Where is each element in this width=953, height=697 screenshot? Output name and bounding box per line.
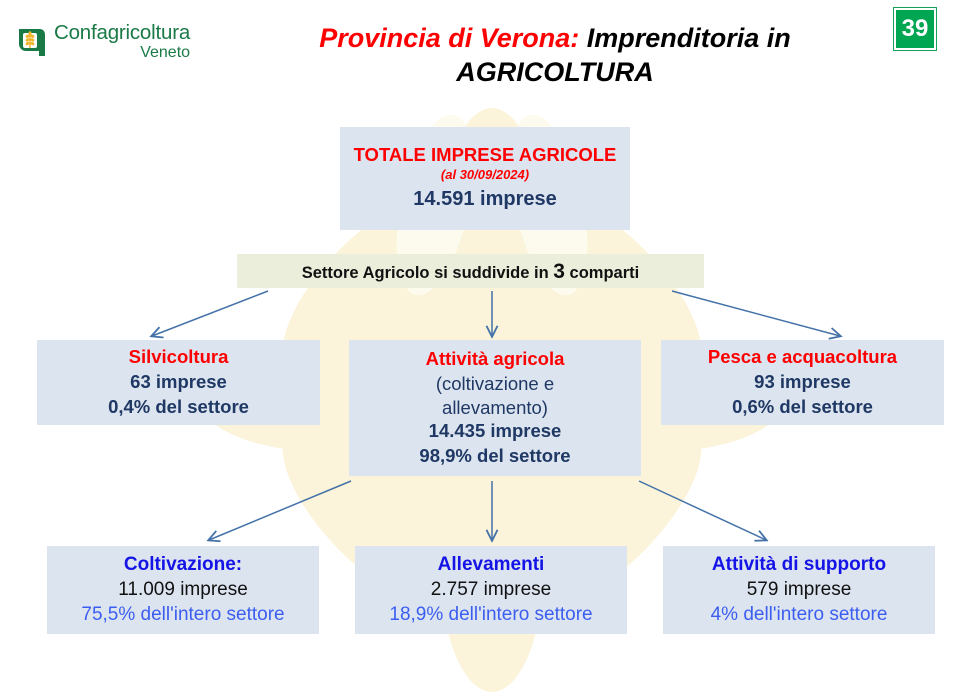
subsector-name: Allevamenti xyxy=(438,552,545,578)
page-title: Provincia di Verona: Imprenditoria in AG… xyxy=(235,22,875,90)
page-number-badge: 39 xyxy=(894,8,936,50)
subsector-count: 579 imprese xyxy=(747,578,852,603)
sector-name: Pesca e acquacoltura xyxy=(708,345,897,370)
page-number: 39 xyxy=(902,17,929,41)
subsector-share: 18,9% dell'intero settore xyxy=(389,603,592,628)
subsector-count: 11.009 imprese xyxy=(118,578,248,603)
total-box-date-note: (al 30/09/2024) xyxy=(441,166,529,184)
sector-box-attivita-agricola: Attività agricola (coltivazione e alleva… xyxy=(349,340,641,476)
sector-subtitle-line2: allevamento) xyxy=(442,396,548,419)
sector-count: 93 imprese xyxy=(754,370,851,395)
confagricoltura-logo: Confagricoltura Veneto xyxy=(16,18,221,66)
total-box-title: TOTALE IMPRESE AGRICOLE xyxy=(354,143,617,166)
logo-wordmark: Confagricoltura Veneto xyxy=(54,23,190,62)
sector-share: 98,9% del settore xyxy=(419,444,570,469)
slide-canvas: Confagricoltura Veneto 39 Provincia di V… xyxy=(0,0,953,697)
total-companies-box: TOTALE IMPRESE AGRICOLE (al 30/09/2024) … xyxy=(340,127,630,230)
sector-share: 0,4% del settore xyxy=(108,395,249,420)
subsector-box-allevamenti: Allevamenti 2.757 imprese 18,9% dell'int… xyxy=(355,546,627,634)
split-text-before: Settore Agricolo si suddivide in xyxy=(302,264,554,282)
subsector-box-attivita-supporto: Attività di supporto 579 imprese 4% dell… xyxy=(663,546,935,634)
sector-box-pesca-acquacoltura: Pesca e acquacoltura 93 imprese 0,6% del… xyxy=(661,340,944,425)
logo-name-line1: Confagricoltura xyxy=(54,23,190,44)
logo-name-line2: Veneto xyxy=(140,45,190,61)
subsector-name: Coltivazione: xyxy=(124,552,242,578)
subsector-share: 75,5% dell'intero settore xyxy=(81,603,284,628)
sector-share: 0,6% del settore xyxy=(732,395,873,420)
total-box-value: 14.591 imprese xyxy=(413,185,556,214)
split-text-after: comparti xyxy=(565,264,639,282)
subsector-name: Attività di supporto xyxy=(712,552,886,578)
sector-count: 63 imprese xyxy=(130,370,227,395)
wheat-ear-logo-icon xyxy=(16,25,48,59)
sector-box-silvicoltura: Silvicoltura 63 imprese 0,4% del settore xyxy=(37,340,320,425)
sector-subtitle-line1: (coltivazione e xyxy=(436,372,554,395)
subsector-count: 2.757 imprese xyxy=(431,578,551,603)
split-count: 3 xyxy=(553,260,565,283)
sector-count: 14.435 imprese xyxy=(429,419,562,444)
sector-split-text: Settore Agricolo si suddivide in 3 compa… xyxy=(302,261,639,282)
subsector-share: 4% dell'intero settore xyxy=(711,603,888,628)
sector-name: Attività agricola xyxy=(426,347,565,372)
page-title-highlight: Provincia di Verona: xyxy=(319,23,579,53)
subsector-box-coltivazione: Coltivazione: 11.009 imprese 75,5% dell'… xyxy=(47,546,319,634)
sector-split-band: Settore Agricolo si suddivide in 3 compa… xyxy=(237,254,704,288)
sector-name: Silvicoltura xyxy=(129,345,229,370)
